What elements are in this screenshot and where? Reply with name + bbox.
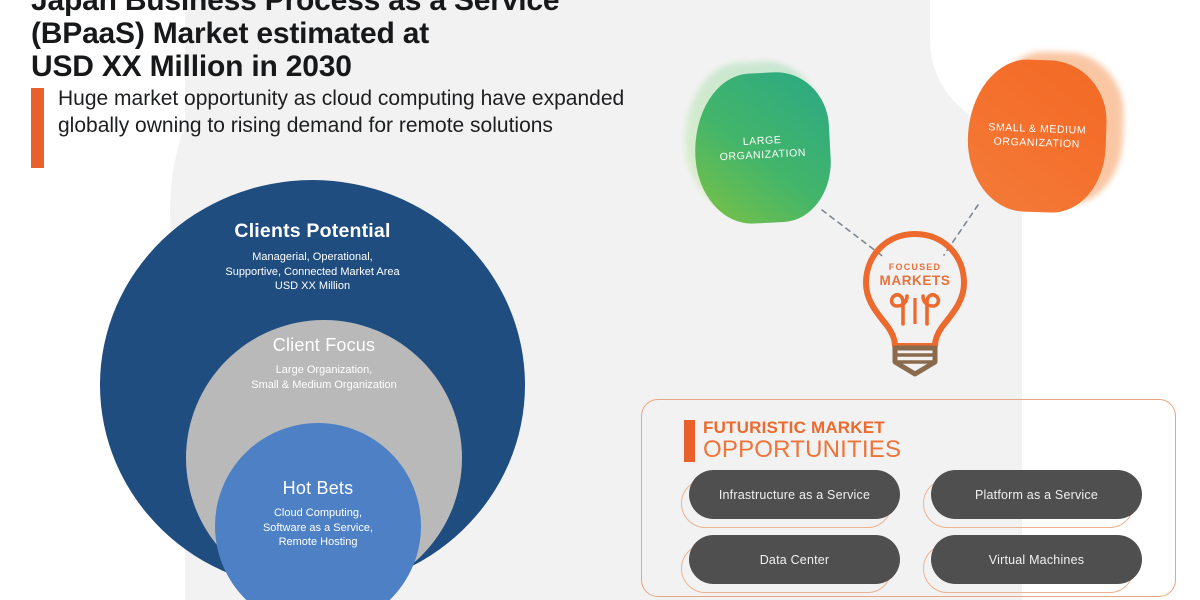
opportunity-item-4[interactable]: Virtual Machines — [931, 535, 1142, 584]
opportunities-heading: FUTURISTIC MARKET OPPORTUNITIES — [684, 418, 901, 462]
opportunities-title-line-2: OPPORTUNITIES — [703, 437, 901, 462]
opportunity-item-1[interactable]: Infrastructure as a Service — [689, 470, 900, 519]
opportunity-item-3-label[interactable]: Data Center — [689, 535, 900, 584]
lightbulb-icon — [855, 228, 975, 378]
opportunities-title-line-1: FUTURISTIC MARKET — [703, 418, 901, 437]
opportunity-item-2[interactable]: Platform as a Service — [931, 470, 1142, 519]
infographic-canvas: Japan Business Process as a Service (BPa… — [0, 0, 1200, 600]
opportunity-item-2-label[interactable]: Platform as a Service — [931, 470, 1142, 519]
opportunity-item-4-label[interactable]: Virtual Machines — [931, 535, 1142, 584]
opportunity-item-3[interactable]: Data Center — [689, 535, 900, 584]
opportunity-item-1-label[interactable]: Infrastructure as a Service — [689, 470, 900, 519]
opportunities-accent-bar-icon — [684, 420, 695, 462]
focused-markets-bulb: FOCUSED MARKETS — [855, 228, 975, 378]
